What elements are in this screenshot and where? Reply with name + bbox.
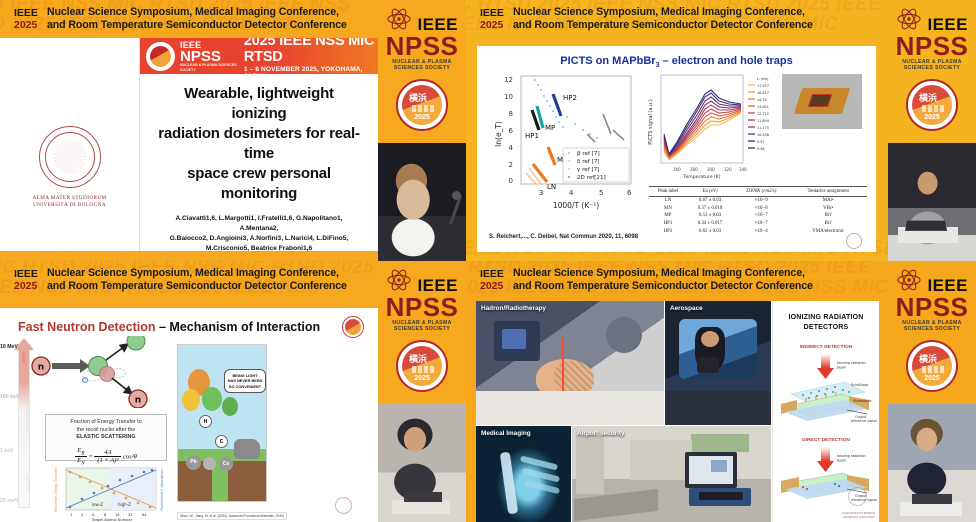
thumbnail-grid: 2025 IEEE NSS MIC RTSD 2025 IEEE NSS MIC… [0,0,976,522]
yokohama-logo-icon [146,42,175,71]
svg-text:6: 6 [627,189,632,197]
slide-fast-neutron[interactable]: Fast Neutron Detection – Mechanism of In… [0,308,378,522]
slide-authors: A.Ciavatti1,6, L.Margotti1, I.Fratelli1,… [156,214,362,251]
svg-text:HP2: HP2 [563,94,577,102]
atom-label-cs: Cs [219,457,233,471]
panel-title-line-2: DETECTORS [773,323,879,333]
svg-text:MP: MP [545,124,555,132]
laptop-icon [905,221,947,231]
svg-text:10.538: 10.538 [757,133,769,137]
banner-ieee: IEEE [14,268,38,280]
right-rail: IEEE NPSS NUCLEAR & PLASMA SCIENCES SOCI… [888,261,976,522]
npss-word: NPSS [378,295,466,319]
banner-ieee-year: IEEE 2025 [480,7,504,31]
title-line-2: radiation dosimeters for real-time [156,124,362,164]
svg-text:Ionizing radiation: Ionizing radiation [837,361,866,365]
table-cell: 0.62 ± 0.03 [687,227,733,235]
table-row: MN 0.37 ± 0.018 ≈10−8 VBr• [649,205,867,213]
svg-text:8: 8 [509,110,513,118]
device-photo [782,74,862,129]
svg-text:t₁ (ms): t₁ (ms) [757,77,769,81]
table-cell: ≈10−7 [733,220,789,228]
svg-text:PICTS signal (a.u.): PICTS signal (a.u.) [648,99,654,145]
picts-spectra-svg: PICTS signal (a.u.) Temperature (K) 2602… [645,72,775,180]
yokohama-badge: 横浜 2025 [906,79,958,131]
badge-year: 2025 [912,114,952,121]
energy-region-thermal: Thermal [24,472,30,492]
svg-text:10: 10 [504,93,513,101]
svg-text:17.557: 17.557 [757,84,769,88]
energy-label-1kev: 1 keV [0,448,14,454]
npss-logo: IEEE NPSS NUCLEAR & PLASMA SCIENCES SOCI… [378,0,466,72]
unibo-seal-small-icon [848,487,867,506]
svg-text:4: 4 [92,513,95,517]
tile-caption: Medical Imaging [481,430,531,437]
banner-line-1: Nuclear Science Symposium, Medical Imagi… [47,267,347,280]
formula-caption-2: the recoil nuclei after the [51,427,161,435]
table-cell: ≈10−4 [733,227,789,235]
slide-applications[interactable]: Hadron/Radiotherapy Aerospace Medical Im… [476,301,879,522]
svg-text:beam: beam [837,366,846,370]
seal-line-2: UNIVERSITÀ DI BOLOGNA [842,516,875,519]
svg-text:5: 5 [599,189,603,197]
slide-title-picts: PICTS on MAPbBr3 – electron and hole tra… [477,55,876,69]
svg-text:Target Atomic Number: Target Atomic Number [91,518,133,522]
svg-text:2: 2 [81,513,83,517]
banner-line-2: and Room Temperature Semiconductor Detec… [47,280,347,293]
slide-left-panel: ALMA MATER STUDIORUM UNIVERSITÀ DI BOLOG… [0,38,140,251]
table-cell: 0.53 ± 0.03 [687,212,733,220]
banner-line-2: and Room Temperature Semiconductor Detec… [513,19,813,32]
badge-kanji: 横浜 [409,355,427,364]
svg-text:ln(e_T): ln(e_T) [494,121,503,147]
badge-year: 2025 [402,114,442,121]
table-cell: MAi• [789,197,867,205]
laptop-icon [404,492,442,502]
quadrant-bottom-right[interactable]: MIC RTSD 2025 IEEE NSS MIC RTSD 2025 IEE… [466,261,976,522]
table-cell: Bri′ [789,220,867,228]
svg-text:11.175: 11.175 [757,126,769,130]
npss-sub-2: SCIENCES SOCIETY [888,326,976,332]
svg-text:n: n [38,363,44,373]
table-cell: HP1 [649,220,687,228]
tile-medical-imaging[interactable]: Medical Imaging [476,426,571,522]
banner-line-1: Nuclear Science Symposium, Medical Imagi… [47,6,347,19]
table-header-cell: D300K (cm2/s) [733,187,789,197]
table-row: MP 0.53 ± 0.03 ≈10−7 Bri′ [649,212,867,220]
npss-logo: IEEE NPSS NUCLEAR & PLASMA SCIENCES SOCI… [888,261,976,333]
svg-text:9.97: 9.97 [757,140,765,144]
authors-line-2: G.Baiocco2, D.Angioini3, A.Norfini3, L.N… [156,234,362,244]
arrhenius-svg: 12 10 8 6 4 2 0 34 56 1000/T (K⁻¹) ln(e_… [491,72,641,212]
atom-icon [386,6,412,32]
energy-transfer-svg: 124 8163264 Target Atomic Number low-Zhi… [50,466,170,522]
banner-ieee-year: IEEE 2025 [14,7,38,31]
table-cell: 0.67 ± 0.03 [687,197,733,205]
table-header-cell: Ea (eV) [687,187,733,197]
svg-text:high-Z: high-Z [118,502,131,507]
badge-kanji: 横浜 [409,94,427,103]
slide-event-name: 2025 IEEE NSS MIC RTSD [244,38,378,65]
wolf-icon [234,439,260,459]
tile-caption: Airport security [577,430,625,437]
svg-text:4: 4 [509,144,514,152]
picts-title-post: – electron and hole traps [659,55,792,67]
svg-text:n: n [135,396,141,406]
speaker-video-feed[interactable] [378,404,466,522]
tile-hadron-radiotherapy[interactable]: Hadron/Radiotherapy [476,301,664,425]
svg-text:beam: beam [837,459,846,463]
atom-label-c: C [215,435,228,448]
table-cell: HP2 [649,227,687,235]
svg-text:12.712: 12.712 [757,112,769,116]
svg-text:260: 260 [673,167,681,172]
svg-text:14.74: 14.74 [757,98,767,102]
svg-text:Scintillator: Scintillator [851,383,869,387]
svg-text:δ ref [7]: δ ref [7] [577,159,600,165]
energy-label-10mev: 10 MeV [0,344,18,350]
unibo-seal-small-icon [335,497,352,514]
banner-lines: Nuclear Science Symposium, Medical Imagi… [47,6,347,31]
badge-kanji: 横浜 [919,355,937,364]
svg-text:16: 16 [115,513,120,517]
slide-header-bar: IEEE NPSS NUCLEAR & PLASMA SCIENCES SOCI… [140,38,378,74]
tile-airport-security[interactable]: Airport security [572,426,771,522]
svg-text:300: 300 [707,167,715,172]
title-line-3: space crew personal monitoring [156,164,362,204]
svg-text:1: 1 [70,513,72,517]
slide-title-fast-neutron: Fast Neutron Detection – Mechanism of In… [18,320,320,334]
banner-lines: Nuclear Science Symposium, Medical Imagi… [513,267,813,292]
svg-text:0: 0 [509,177,513,185]
banner-year: 2025 [14,280,38,292]
svg-text:9.46: 9.46 [757,147,765,151]
npss-word: NPSS [888,295,976,319]
right-rail: IEEE NPSS NUCLEAR & PLASMA SCIENCES SOCI… [378,261,466,522]
svg-text:Temperature (K): Temperature (K) [682,174,720,180]
svg-text:32: 32 [128,513,133,517]
svg-text:320: 320 [724,167,732,172]
npss-word: NPSS [888,34,976,58]
energy-label-100kev: 100 keV [0,394,19,400]
picts-title-pre: PICTS on MAPbBr [560,55,655,67]
svg-text:HP1: HP1 [525,132,539,140]
unibo-seal-small-icon [846,233,862,249]
atom-icon [896,267,922,293]
tile-caption: Hadron/Radiotherapy [481,305,546,312]
banner-year: 2025 [14,19,38,31]
formula-caption: Fraction of Energy Transfer to the recoi… [51,419,161,442]
table-cell: ≈10−7 [733,212,789,220]
badge-year: 2025 [402,375,442,382]
banner-ieee-year: IEEE 2025 [480,268,504,292]
table-row: LN 0.67 ± 0.03 ≈10−9 MAi• [649,197,867,205]
panel-title-line-1: IONIZING RADIATION [773,313,879,323]
trap-parameters-table: Peak label Ea (eV) D300K (cm2/s) Tentati… [649,186,867,235]
table-cell: Bri′ [789,212,867,220]
table-cell: 0.34 ± 0.017 [687,220,733,228]
energy-region-fast: Fast [20,352,26,363]
atom-icon [896,6,922,32]
seal-line-2: UNIVERSITÀ DI BOLOGNA [0,202,139,209]
atom-label-pb: Pb [186,455,201,470]
banner-ieee: IEEE [14,7,38,19]
atom-icon [386,267,412,293]
table-row: HP2 0.62 ± 0.03 ≈10−4 VMA/electronic [649,227,867,235]
title-line-1: Wearable, lightweight ionizing [156,84,362,124]
yokohama-logo-small-icon [342,316,364,338]
cartoon-illustration: BEING LIGHT HAS NEVER BEEN SO CONVENIENT… [177,344,267,502]
title-part-a: Fast Neutron Detection [18,320,156,334]
svg-text:Photodiode: Photodiode [853,399,872,403]
yokohama-badge: 横浜 2025 [396,340,448,392]
unibo-seal-caption-small: ALMA MATER STUDIORUM UNIVERSITÀ DI BOLOG… [842,512,875,519]
seal-line-1: ALMA MATER STUDIORUM [0,195,139,202]
svg-text:Maximum Energy Transfer: Maximum Energy Transfer [54,467,58,512]
laptop-icon [912,494,952,504]
svg-text:Ionizing radiation: Ionizing radiation [837,454,866,458]
svg-text:280: 280 [690,167,698,172]
atom-label-h: H [199,415,212,428]
speech-bubble: BEING LIGHT HAS NEVER BEEN SO CONVENIENT [224,369,266,393]
svg-text:low-Z: low-Z [92,502,103,507]
table-cell: MN [649,205,687,213]
yokohama-badge: 横浜 2025 [396,79,448,131]
energy-region-epithermal: Epithermal [24,406,30,433]
svg-text:6: 6 [509,127,514,135]
banner-year: 2025 [480,280,504,292]
table-cell: MP [649,212,687,220]
chart-arrhenius: 12 10 8 6 4 2 0 34 56 1000/T (K⁻¹) ln(e_… [491,72,641,212]
banner-line-2: and Room Temperature Semiconductor Detec… [513,280,813,293]
banner-lines: Nuclear Science Symposium, Medical Imagi… [47,267,347,292]
banner-lines: Nuclear Science Symposium, Medical Imagi… [513,6,813,31]
speaker-video-feed[interactable] [888,404,976,522]
formula-expression: ER EN = 4A (1 + A)² cos²θ [51,447,161,467]
table-row: HP1 0.34 ± 0.017 ≈10−7 Bri′ [649,220,867,228]
chart-picts-spectra: PICTS signal (a.u.) Temperature (K) 2602… [645,72,775,180]
npss-sub-2: SCIENCES SOCIETY [378,65,466,71]
slide-npss-logo: IEEE NPSS NUCLEAR & PLASMA SCIENCES SOCI… [180,40,237,72]
npss-word: NPSS [378,34,466,58]
right-rail: IEEE NPSS NUCLEAR & PLASMA SCIENCES SOCI… [888,0,976,261]
svg-text:LN: LN [547,183,556,191]
energy-label-25mev: 25 meV [0,498,18,504]
banner-year: 2025 [480,19,504,31]
title-part-b: – Mechanism of Interaction [156,320,321,334]
formula-caption-1: Fraction of Energy Transfer to [51,419,161,427]
svg-text:2: 2 [509,161,513,169]
table-header-cell: Peak label [649,187,687,197]
tile-aerospace[interactable]: Aerospace [665,301,771,425]
table-cell: LN [649,197,687,205]
banner-line-1: Nuclear Science Symposium, Medical Imagi… [513,267,813,280]
quadrant-top-right[interactable]: MIC RTSD 2025 IEEE NSS MIC RTSD 2025 IEE… [466,0,976,261]
svg-text:4: 4 [569,189,574,197]
svg-text:Photoelectric Absorption: Photoelectric Absorption [160,469,164,511]
slide-body: Wearable, lightweight ionizing radiation… [140,74,378,251]
table-cell: ≈10−9 [733,197,789,205]
table-cell: ≈10−8 [733,205,789,213]
slide-picts[interactable]: PICTS on MAPbBr3 – electron and hole tra… [477,46,876,252]
unibo-seal-icon [39,126,101,188]
banner-ieee-year: IEEE 2025 [14,268,38,292]
authors-line-3: M.Crisconio5, Beatrice Fraboni1,6 [156,244,362,251]
slide-npss-sub: NUCLEAR & PLASMA SCIENCES SOCIETY [180,63,237,72]
quadrant-bottom-left[interactable]: MIC RTSD 2025 IEEE NSS MIC RTSD 2025 202… [0,261,466,522]
npss-sub-2: SCIENCES SOCIETY [888,65,976,71]
slide-wearable-dosimeters[interactable]: ALMA MATER STUDIORUM UNIVERSITÀ DI BOLOG… [0,38,378,251]
lectern-icon [392,500,450,514]
unibo-seal-caption: ALMA MATER STUDIORUM UNIVERSITÀ DI BOLOG… [0,195,139,209]
svg-text:γ ref [7]: γ ref [7] [577,167,599,173]
svg-text:11.894: 11.894 [757,119,769,123]
indirect-detection-diagram: Ionizing radiation beam [773,350,879,422]
banner-ieee: IEEE [480,268,504,280]
banner-line-1: Nuclear Science Symposium, Medical Imagi… [513,6,813,19]
npss-logo: IEEE NPSS NUCLEAR & PLASMA SCIENCES SOCI… [888,0,976,72]
chart-energy-transfer: 124 8163264 Target Atomic Number low-Zhi… [50,466,170,522]
slide-npss-word: NPSS [180,50,237,63]
svg-text:3: 3 [539,189,543,197]
svg-text:13.651: 13.651 [757,105,769,109]
slide-reference: Shao, W., Jiang, M. et al. (2023). Advan… [177,512,287,520]
microphone-head-icon [452,191,461,200]
tile-caption: Aerospace [670,305,703,312]
npss-sub-2: SCIENCES SOCIETY [378,326,466,332]
table-header-row: Peak label Ea (eV) D300K (cm2/s) Tentati… [649,187,867,197]
badge-kanji: 横浜 [919,94,937,103]
svg-text:electrical signal: electrical signal [851,419,877,422]
speaker-video-feed[interactable] [888,143,976,261]
panel-ionizing-detectors: IONIZING RADIATION DETECTORS INDIRECT DE… [772,301,879,522]
table-header-cell: Tentative assignment [789,187,867,197]
svg-text:64: 64 [142,513,147,517]
badge-year: 2025 [912,375,952,382]
slide-citation: S. Reichert,..., C. Deibel, Nat Commun 2… [489,234,638,240]
quadrant-top-left[interactable]: 2025 IEEE NSS MIC RTSD 2025 IEEE NSS MIC… [0,0,466,261]
formula-box: Fraction of Energy Transfer to the recoi… [45,414,167,461]
speaker-video-feed[interactable] [378,143,466,261]
svg-text:β ref [7]: β ref [7] [577,151,600,157]
elastic-scattering-diagram: n n [28,336,153,408]
svg-text:16.617: 16.617 [757,91,769,95]
bubble-line-3: SO CONVENIENT [225,384,265,389]
panel-title: IONIZING RADIATION DETECTORS [773,313,879,333]
yokohama-badge: 横浜 2025 [906,340,958,392]
svg-text:2D ref[21]: 2D ref[21] [577,175,606,181]
table-cell: VBr• [789,205,867,213]
npss-logo: IEEE NPSS NUCLEAR & PLASMA SCIENCES SOCI… [378,261,466,333]
desk-icon [900,502,962,516]
table-cell: 0.37 ± 0.018 [687,205,733,213]
banner-ieee: IEEE [480,7,504,19]
formula-caption-3: ELASTIC SCATTERING [51,434,161,442]
svg-text:1000/T (K⁻¹): 1000/T (K⁻¹) [553,201,599,210]
banner-line-2: and Room Temperature Semiconductor Detec… [47,19,347,32]
svg-text:8: 8 [104,513,107,517]
right-rail: IEEE NPSS NUCLEAR & PLASMA SCIENCES SOCI… [378,0,466,261]
authors-line-1: A.Ciavatti1,6, L.Margotti1, I.Fratelli1,… [156,214,362,234]
svg-text:12: 12 [504,76,513,84]
svg-text:340: 340 [739,167,747,172]
slide-main-title: Wearable, lightweight ionizing radiation… [156,84,362,204]
